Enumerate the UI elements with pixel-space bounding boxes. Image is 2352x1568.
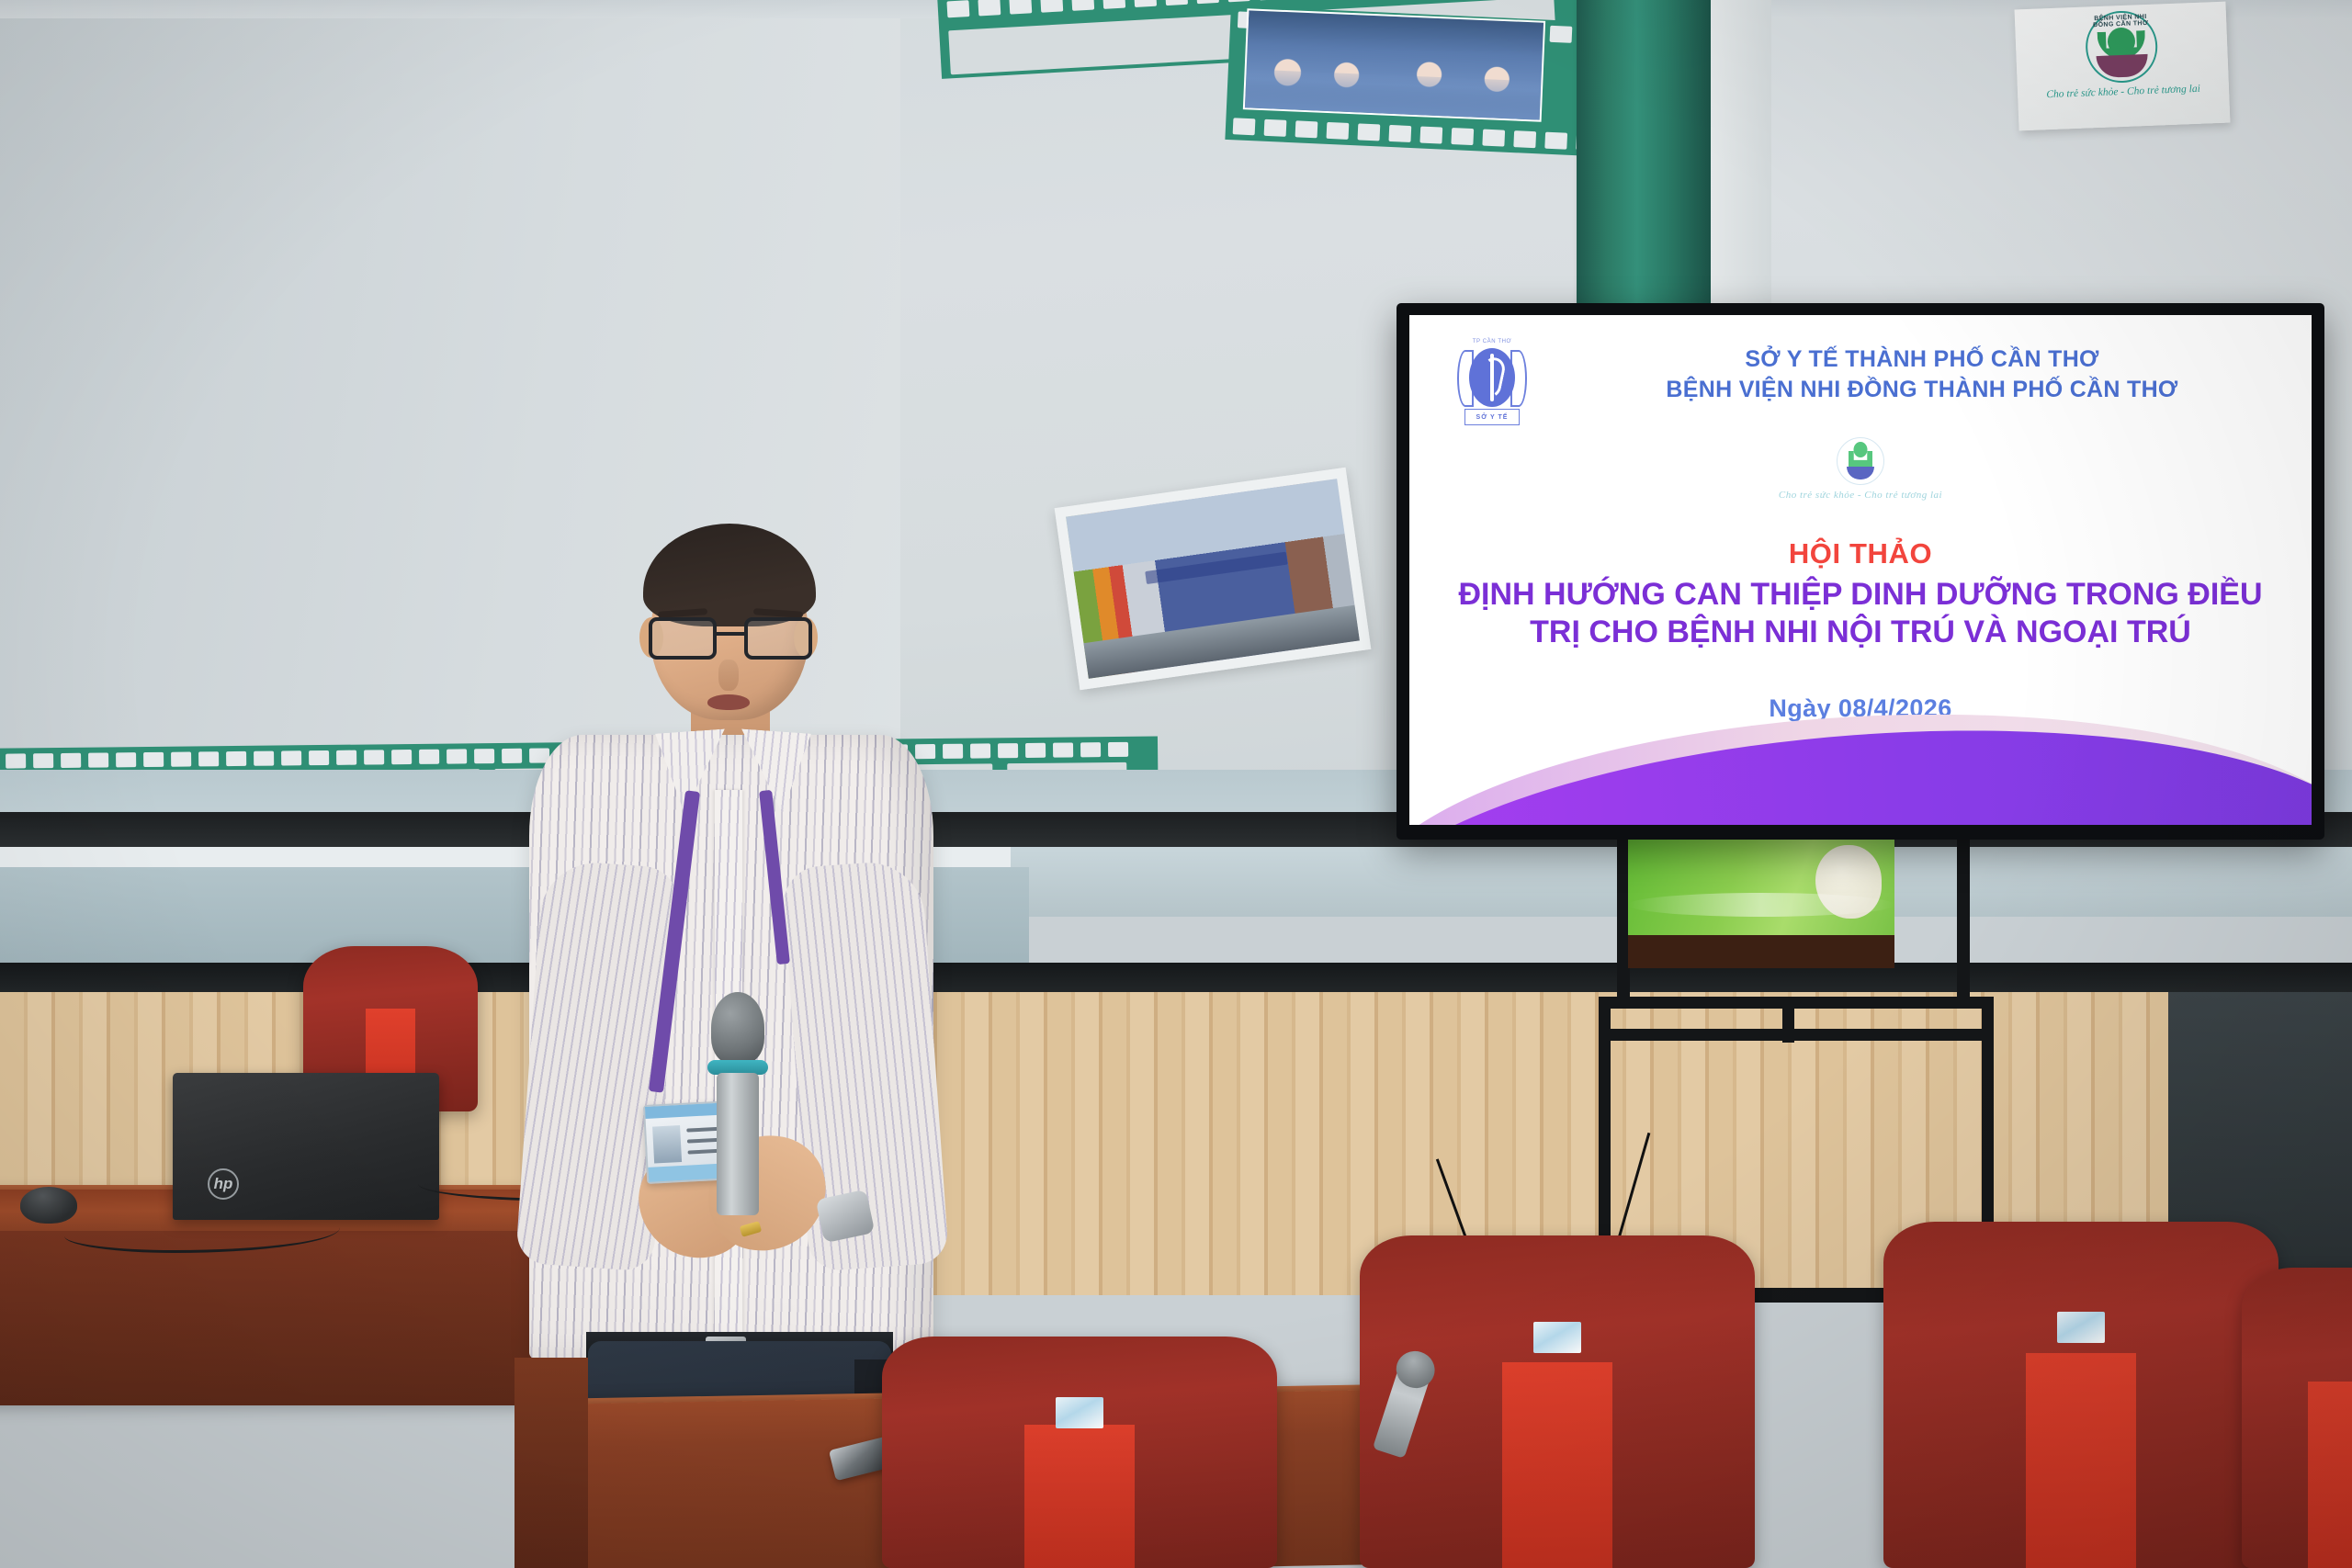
slide-title-line-1: ĐỊNH HƯỚNG CAN THIỆP DINH DƯỠNG TRONG ĐI…: [1428, 576, 2293, 614]
slide-screen: TP CẦN THƠ SỞ Y TẾ SỞ Y TẾ THÀNH PHỐ CẦN…: [1409, 315, 2312, 825]
tv-cart-divider: [1782, 997, 1794, 1043]
chair-foreground-left[interactable]: [882, 1337, 1277, 1568]
hp-logo-icon: hp: [208, 1168, 239, 1200]
signboard-tagline: Cho trẻ sức khỏe - Cho trẻ tương lai: [2046, 84, 2200, 100]
presentation-scene: BỆNH VIỆN NHI ĐỒNG CẦN THƠ Cho trẻ sức k…: [0, 0, 2352, 1568]
slide-hospital-tagline: Cho trẻ sức khỏe - Cho trẻ tương lai: [1428, 490, 2293, 501]
chair-label: [2057, 1312, 2105, 1343]
hospital-signboard: BỆNH VIỆN NHI ĐỒNG CẦN THƠ Cho trẻ sức k…: [2015, 2, 2231, 131]
hospital-logo-icon: BỆNH VIỆN NHI ĐỒNG CẦN THƠ: [2085, 10, 2159, 85]
chair-foreground-right[interactable]: [1883, 1222, 2278, 1568]
handheld-microphone[interactable]: [711, 992, 764, 1213]
green-column: [1577, 0, 1711, 322]
microphone-grille-icon: [711, 992, 764, 1064]
slide-org-line-1: SỞ Y TẾ THÀNH PHỐ CẦN THƠ: [1551, 344, 2293, 375]
chair-label: [1533, 1322, 1581, 1353]
surgical-team-photo: [1243, 8, 1545, 122]
banner-base: [1628, 935, 1894, 968]
right-wall-segment: [1711, 0, 1771, 322]
hp-laptop[interactable]: hp: [173, 1073, 439, 1220]
hospital-logo-icon-slide: [1839, 440, 1882, 482]
presenter-table-skirt: [0, 1231, 533, 1405]
logo-banner-text: SỞ Y TẾ: [1464, 409, 1520, 425]
slide-title-line-2: TRỊ CHO BỆNH NHI NỘI TRÚ VÀ NGOẠI TRÚ: [1428, 614, 2293, 651]
slide-org-line-2: BỆNH VIỆN NHI ĐỒNG THÀNH PHỐ CẦN THƠ: [1551, 375, 2293, 405]
logo-arc-text: TP CẦN THƠ: [1453, 339, 1531, 344]
chair-label: [1056, 1397, 1103, 1428]
department-of-health-logo-icon: TP CẦN THƠ SỞ Y TẾ: [1453, 339, 1531, 427]
badge-photo: [652, 1125, 682, 1164]
tv-cart-crossbar: [1599, 1029, 1994, 1041]
eyeglasses-icon: [649, 617, 812, 663]
slide-wave-decoration: [1409, 707, 2312, 825]
mother-and-child-banner: [1628, 834, 1894, 937]
front-table-left-leg: [514, 1358, 588, 1568]
presentation-display[interactable]: TP CẦN THƠ SỞ Y TẾ SỞ Y TẾ THÀNH PHỐ CẦN…: [1396, 303, 2324, 840]
signboard-hospital-name: BỆNH VIỆN NHI ĐỒNG CẦN THƠ: [2086, 14, 2154, 29]
slide-event-label: HỘI THẢO: [1428, 537, 2293, 570]
chair-foreground-far-right[interactable]: [2242, 1268, 2352, 1568]
tv-stand-post-right: [1957, 838, 1970, 1003]
presenter-nose: [718, 660, 739, 691]
presenter-mouth: [707, 694, 750, 710]
